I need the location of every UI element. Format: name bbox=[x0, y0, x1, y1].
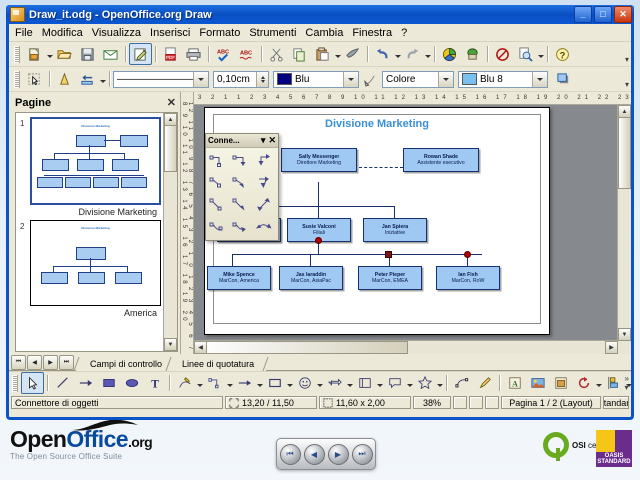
vertical-ruler-ticks: 12 11 10 9 8 7 6 5 4 3 2 1 0 1 2 3 4 5 6… bbox=[181, 92, 193, 354]
area-color-combo[interactable]: Blu 8 bbox=[458, 71, 548, 88]
undo-icon[interactable] bbox=[371, 43, 394, 65]
osi-logo-icon bbox=[543, 432, 569, 458]
flowchart-shapes-icon[interactable] bbox=[353, 372, 376, 394]
thumb-node bbox=[65, 177, 91, 188]
canvas-horizontal-scrollbar[interactable]: ◀ ▶ bbox=[194, 340, 618, 354]
toolbar-separator bbox=[499, 375, 500, 391]
toolbar-grip[interactable] bbox=[14, 71, 20, 88]
canvas-scroll-down-icon[interactable]: ▼ bbox=[618, 328, 631, 341]
connector-selection-handle[interactable] bbox=[385, 251, 392, 258]
thumb-node bbox=[112, 159, 139, 171]
basic-shapes-icon[interactable] bbox=[263, 372, 286, 394]
thumb-connector bbox=[90, 258, 91, 266]
pages-scroll-down-icon[interactable]: ▼ bbox=[164, 338, 177, 351]
osi-bold: OSI bbox=[572, 441, 586, 450]
area-color-value: Blu 8 bbox=[480, 74, 532, 85]
callout-dropdown-icon[interactable] bbox=[406, 374, 413, 392]
connector-sally-rowan[interactable] bbox=[359, 167, 403, 168]
node-role: Direttore Marketing bbox=[297, 160, 341, 167]
line-tool-icon[interactable] bbox=[51, 372, 74, 394]
toolbar-separator bbox=[261, 46, 262, 62]
draw-document-icon bbox=[10, 7, 25, 22]
media-controls[interactable]: ⏮ ◀ ▶ ⏭ bbox=[276, 438, 376, 470]
menu-visualizza[interactable]: Visualizza bbox=[92, 27, 141, 39]
connector-dropdown-icon[interactable] bbox=[226, 374, 233, 392]
tab-last-icon[interactable]: ⏭ bbox=[59, 355, 74, 370]
undo-dropdown-icon[interactable] bbox=[394, 45, 401, 63]
send-email-icon[interactable] bbox=[99, 43, 122, 65]
page-thumbnail-list: 1 Divisione Marketing bbox=[16, 113, 163, 351]
openoffice-branding: OpenOffice.org The Open Source Office Su… bbox=[10, 428, 220, 461]
arrow-tool-icon[interactable] bbox=[74, 372, 97, 394]
area-style-value: Colore bbox=[386, 74, 438, 85]
pages-panel-title: Pagine bbox=[15, 97, 167, 109]
area-style-combo[interactable]: Colore bbox=[382, 71, 454, 88]
main-content: Pagine ✕ 1 Divisione Marketing bbox=[9, 92, 631, 354]
glue-point-handle[interactable] bbox=[464, 251, 471, 258]
node-role: Filiali bbox=[313, 230, 325, 237]
logo-org: .org bbox=[128, 434, 152, 450]
node-role: MarCon, America bbox=[219, 278, 259, 285]
block-arrows-icon[interactable] bbox=[323, 372, 346, 394]
shadow-icon[interactable] bbox=[552, 68, 575, 90]
line-color-swatch-icon bbox=[277, 73, 292, 85]
gluepoints-icon[interactable] bbox=[473, 372, 496, 394]
open-document-icon[interactable] bbox=[53, 43, 76, 65]
connector-sally-down[interactable] bbox=[318, 182, 319, 206]
area-color-dropdown-icon[interactable] bbox=[532, 72, 547, 87]
connector-straight-icon[interactable] bbox=[208, 194, 231, 216]
connector-straight-arrow-end-icon[interactable] bbox=[231, 194, 254, 216]
thumb-node bbox=[76, 135, 106, 147]
pages-panel-header: Pagine ✕ bbox=[15, 94, 180, 111]
page-caption: Divisione Marketing bbox=[30, 205, 161, 217]
area-color-swatch-icon bbox=[462, 73, 477, 85]
connector-palette-title: Conne... bbox=[208, 136, 258, 145]
line-width-value: 0,10cm bbox=[217, 74, 256, 85]
line-color-dropdown-icon[interactable] bbox=[343, 72, 358, 87]
media-prev-icon[interactable]: ◀ bbox=[304, 444, 325, 465]
line-width-spinner[interactable]: 0,10cm bbox=[213, 71, 269, 88]
status-zoom[interactable]: 38% bbox=[413, 396, 451, 409]
thumb-node bbox=[78, 272, 105, 284]
page-thumbnail-item[interactable]: 1 Divisione Marketing bbox=[20, 117, 161, 217]
thumb-connector bbox=[44, 175, 144, 176]
clone-formatting-icon[interactable] bbox=[341, 43, 364, 65]
node-role: MarCon, RoW bbox=[452, 278, 485, 285]
chart-icon[interactable] bbox=[438, 43, 461, 65]
window-buttons: _ □ ✕ bbox=[574, 6, 632, 23]
callout-shapes-icon[interactable] bbox=[383, 372, 406, 394]
toolbar-separator bbox=[49, 71, 50, 87]
status-extra-indicator bbox=[485, 396, 499, 409]
page-thumbnail-2[interactable]: Divisione Marketing bbox=[30, 220, 161, 306]
thumb-node bbox=[121, 177, 147, 188]
seagull-icon bbox=[70, 419, 140, 433]
pages-panel: Pagine ✕ 1 Divisione Marketing bbox=[9, 92, 181, 354]
area-style-icon[interactable] bbox=[359, 68, 382, 90]
drawing-toolbar: T bbox=[9, 371, 631, 394]
insert-image-icon[interactable] bbox=[526, 372, 549, 394]
status-position: 13,20 / 11,50 bbox=[225, 396, 317, 409]
node-role: Assistente esecutivo bbox=[417, 160, 464, 167]
ellipse-tool-icon[interactable] bbox=[120, 372, 143, 394]
line-and-filling-toolbar: ———————— 0,10cm Blu Colore Blu 8 bbox=[9, 67, 631, 92]
connector-straight-arrows-both-icon[interactable] bbox=[253, 194, 276, 216]
toolbar-separator bbox=[155, 46, 156, 62]
toolbar-separator bbox=[47, 375, 48, 391]
canvas-hscroll-thumb[interactable] bbox=[206, 341, 408, 354]
node-sally[interactable]: Sally Messenger Direttore Marketing bbox=[281, 148, 357, 172]
svg-text:ABC: ABC bbox=[240, 50, 252, 56]
pages-scroll-thumb[interactable] bbox=[164, 125, 177, 172]
thumb-node bbox=[42, 159, 69, 171]
menu-inserisci[interactable]: Inserisci bbox=[150, 27, 190, 39]
menu-finestra[interactable]: Finestra bbox=[352, 27, 392, 39]
status-size-value: 11,60 x 2,00 bbox=[336, 398, 385, 408]
connector-curved-icon[interactable] bbox=[208, 216, 231, 238]
connector-to-jan[interactable] bbox=[394, 206, 395, 218]
node-role: MarCon, EMEA bbox=[372, 278, 408, 285]
text-tool-icon[interactable]: T bbox=[143, 372, 166, 394]
export-pdf-icon[interactable]: PDF bbox=[159, 43, 182, 65]
canvas-vertical-scrollbar[interactable]: ▲ ▼ bbox=[617, 105, 631, 354]
menu-help[interactable]: ? bbox=[401, 27, 407, 39]
standard-toolbar-overflow-icon[interactable]: ▾ bbox=[625, 55, 629, 64]
help-icon[interactable]: ? bbox=[551, 43, 574, 65]
redo-icon[interactable] bbox=[401, 43, 424, 65]
print-icon[interactable] bbox=[182, 43, 205, 65]
line-arrow-dropdown-icon[interactable] bbox=[256, 374, 263, 392]
save-document-icon[interactable] bbox=[76, 43, 99, 65]
connector-palette-dropdown-icon[interactable]: ▾ bbox=[258, 135, 266, 146]
thumb-node bbox=[120, 135, 148, 147]
status-size: 11,60 x 2,00 bbox=[319, 396, 411, 409]
connector-curved-arrow-end-icon[interactable] bbox=[231, 216, 254, 238]
tab-first-icon[interactable]: ⏮ bbox=[11, 355, 26, 370]
status-signature-indicator bbox=[469, 396, 483, 409]
curve-dropdown-icon[interactable] bbox=[196, 374, 203, 392]
media-next-icon[interactable]: ▶ bbox=[328, 444, 349, 465]
menu-file[interactable]: File bbox=[15, 27, 33, 39]
fontwork-gallery-icon[interactable]: A bbox=[503, 372, 526, 394]
line-color-value: Blu bbox=[295, 74, 343, 85]
rotate-icon[interactable] bbox=[572, 372, 595, 394]
connector-palette-body bbox=[206, 148, 278, 240]
tab-linee-di-quotatura[interactable]: Linee di quotatura bbox=[168, 357, 266, 371]
connector-standard-arrows-both-icon[interactable] bbox=[253, 150, 276, 172]
menu-cambia[interactable]: Cambia bbox=[305, 27, 343, 39]
align-dropdown-icon[interactable] bbox=[99, 70, 106, 88]
menu-modifica[interactable]: Modifica bbox=[42, 27, 83, 39]
media-first-icon[interactable]: ⏮ bbox=[280, 444, 301, 465]
fontwork-icon[interactable] bbox=[53, 68, 76, 90]
maximize-button[interactable]: □ bbox=[594, 6, 612, 23]
redo-dropdown-icon[interactable] bbox=[424, 45, 431, 63]
node-mike[interactable]: Mike Spence MarCon, America bbox=[207, 266, 271, 290]
svg-text:PDF: PDF bbox=[166, 55, 175, 60]
pages-panel-close-icon[interactable]: ✕ bbox=[167, 96, 176, 109]
gallery-icon[interactable] bbox=[461, 43, 484, 65]
line-style-value: ———————— bbox=[117, 74, 193, 85]
thumb-connector bbox=[104, 140, 120, 141]
line-width-spin-icon[interactable] bbox=[256, 72, 268, 87]
toolbar-separator bbox=[487, 46, 488, 62]
symbol-shapes-dropdown-icon[interactable] bbox=[316, 374, 323, 392]
connector-tool-icon[interactable] bbox=[203, 372, 226, 394]
layer-tab-bar: ⏮ ◀ ▶ ⏭ Campi di controllo Linee di quot… bbox=[9, 354, 631, 371]
tab-nav-buttons: ⏮ ◀ ▶ ⏭ bbox=[11, 355, 74, 371]
drawing-toolbar-overflow-icon[interactable]: »▾ bbox=[625, 374, 629, 392]
minimize-button[interactable]: _ bbox=[574, 6, 592, 23]
page-number: 2 bbox=[20, 220, 30, 318]
svg-text:A: A bbox=[512, 380, 518, 389]
openoffice-tagline: The Open Source Office Suite bbox=[10, 452, 220, 461]
new-document-icon[interactable] bbox=[23, 43, 46, 65]
connector-curved-arrows-both-icon[interactable] bbox=[253, 216, 276, 238]
flowchart-dropdown-icon[interactable] bbox=[376, 374, 383, 392]
copy-icon[interactable] bbox=[288, 43, 311, 65]
horizontal-ruler[interactable]: 3 2 1 1 2 3 4 5 6 7 8 9 10 11 12 13 14 1… bbox=[194, 92, 631, 105]
window-title: Draw_it.odg - OpenOffice.org Draw bbox=[29, 9, 574, 21]
position-icon bbox=[229, 398, 239, 408]
selection-tool-icon[interactable] bbox=[21, 372, 44, 394]
thumbnail-title: Divisione Marketing bbox=[31, 226, 160, 230]
svg-text:?: ? bbox=[560, 50, 566, 60]
stars-shapes-icon[interactable] bbox=[413, 372, 436, 394]
logo-open: Open bbox=[10, 426, 66, 452]
toolbar-separator bbox=[125, 46, 126, 62]
stars-dropdown-icon[interactable] bbox=[436, 374, 443, 392]
node-role: MarCon, AsiaPac bbox=[291, 278, 331, 285]
line-arrow-tool-icon[interactable] bbox=[233, 372, 256, 394]
points-edit-icon[interactable] bbox=[450, 372, 473, 394]
svg-text:T: T bbox=[151, 378, 159, 390]
align-objects-icon[interactable] bbox=[602, 372, 625, 394]
connector-line-icon[interactable] bbox=[208, 172, 231, 194]
status-bar: Connettore di oggetti 13,20 / 11,50 11,6… bbox=[9, 394, 631, 411]
canvas-vscroll-thumb[interactable] bbox=[618, 117, 631, 189]
tab-prev-icon[interactable]: ◀ bbox=[27, 355, 42, 370]
connector-standard-icon[interactable] bbox=[208, 150, 231, 172]
connector-level3-bus[interactable] bbox=[232, 254, 482, 255]
connector-standard-arrow-end-icon[interactable] bbox=[231, 150, 254, 172]
connector-palette[interactable]: Conne... ▾ ✕ bbox=[205, 133, 279, 241]
status-modified-indicator bbox=[453, 396, 467, 409]
connector-to-susie[interactable] bbox=[318, 206, 319, 218]
toolbar-separator bbox=[367, 46, 368, 62]
oasis-logo-icon bbox=[596, 430, 632, 452]
menu-formato[interactable]: Formato bbox=[199, 27, 240, 39]
menu-strumenti[interactable]: Strumenti bbox=[249, 27, 296, 39]
toolbar-grip[interactable] bbox=[14, 46, 20, 63]
standard-toolbar: PDF ABC ABC bbox=[9, 42, 631, 67]
status-style: Standard bbox=[603, 396, 629, 409]
status-page: Pagina 1 / 2 (Layout) bbox=[501, 396, 601, 409]
thumb-node bbox=[77, 159, 104, 171]
tab-campi-di-controllo[interactable]: Campi di controllo bbox=[76, 357, 174, 371]
toolbar-separator bbox=[109, 71, 110, 87]
close-button[interactable]: ✕ bbox=[614, 6, 632, 23]
title-bar: Draw_it.odg - OpenOffice.org Draw _ □ ✕ bbox=[6, 5, 634, 24]
size-icon bbox=[323, 398, 333, 408]
line-toolbar-overflow-icon[interactable]: ▾ bbox=[625, 80, 629, 89]
line-style-dropdown-icon[interactable] bbox=[193, 72, 208, 87]
line-style-combo[interactable]: ———————— bbox=[113, 71, 209, 88]
connector-to-jas[interactable] bbox=[310, 254, 311, 266]
toolbar-separator bbox=[446, 375, 447, 391]
pages-scrollbar[interactable]: ▲ ▼ bbox=[163, 113, 177, 351]
page-number: 1 bbox=[20, 117, 30, 217]
autospellcheck-icon[interactable]: ABC bbox=[235, 43, 258, 65]
page-thumbnail-1[interactable]: Divisione Marketing bbox=[30, 117, 161, 205]
toolbar-separator bbox=[547, 46, 548, 62]
rectangle-tool-icon[interactable] bbox=[97, 372, 120, 394]
pages-panel-body: 1 Divisione Marketing bbox=[15, 112, 178, 352]
align-icon[interactable] bbox=[76, 68, 99, 90]
display-grid-icon[interactable] bbox=[491, 43, 514, 65]
thumb-node bbox=[76, 247, 106, 260]
spellcheck-icon[interactable]: ABC bbox=[212, 43, 235, 65]
basic-shapes-dropdown-icon[interactable] bbox=[286, 374, 293, 392]
diagram-title[interactable]: Divisione Marketing bbox=[205, 118, 549, 130]
oasis-label: OASIS STANDARD bbox=[596, 452, 632, 467]
edit-file-icon[interactable] bbox=[129, 43, 152, 65]
page-caption: America bbox=[30, 306, 161, 318]
curve-tool-icon[interactable] bbox=[173, 372, 196, 394]
node-jan[interactable]: Jan Spiera Iniziative bbox=[363, 218, 427, 242]
connector-line-arrow-end-icon[interactable] bbox=[231, 172, 254, 194]
node-role: Iniziative bbox=[385, 230, 405, 237]
node-ian[interactable]: Ian Fish MarCon, RoW bbox=[436, 266, 500, 290]
connector-to-mike[interactable] bbox=[232, 254, 233, 266]
connector-line-arrows-both-icon[interactable] bbox=[253, 172, 276, 194]
symbol-shapes-icon[interactable] bbox=[293, 372, 316, 394]
paste-icon[interactable] bbox=[311, 43, 334, 65]
node-peter[interactable]: Peter Pieper MarCon, EMEA bbox=[358, 266, 422, 290]
zoom-dropdown-icon[interactable] bbox=[537, 45, 544, 63]
node-jas[interactable]: Jas Iaraddin MarCon, AsiaPac bbox=[279, 266, 343, 290]
status-mode: Connettore di oggetti bbox=[11, 396, 223, 409]
media-last-icon[interactable]: ⏭ bbox=[352, 444, 373, 465]
tab-next-icon[interactable]: ▶ bbox=[43, 355, 58, 370]
toolbar-grip[interactable] bbox=[12, 375, 18, 392]
thumbnail-title: Divisione Marketing bbox=[32, 124, 159, 128]
thumb-node bbox=[93, 177, 119, 188]
node-rowan[interactable]: Rowan Shade Assistente esecutivo bbox=[403, 148, 479, 172]
connector-palette-header[interactable]: Conne... ▾ ✕ bbox=[206, 134, 278, 148]
page-thumbnail-item[interactable]: 2 Divisione Marketing bbox=[20, 220, 161, 318]
paste-dropdown-icon[interactable] bbox=[334, 45, 341, 63]
oasis-line2: STANDARD bbox=[596, 459, 632, 465]
oasis-standard-badge: OASIS STANDARD bbox=[596, 430, 632, 467]
line-color-combo[interactable]: Blu bbox=[273, 71, 359, 88]
vertical-ruler[interactable]: 12 11 10 9 8 7 6 5 4 3 2 1 0 1 2 3 4 5 6… bbox=[181, 92, 194, 354]
select-icon[interactable] bbox=[23, 68, 46, 90]
toolbar-separator bbox=[208, 46, 209, 62]
menu-bar: File Modifica Visualizza Inserisci Forma… bbox=[9, 24, 631, 42]
gallery-panel-icon[interactable] bbox=[549, 372, 572, 394]
area-style-dropdown-icon[interactable] bbox=[438, 72, 453, 87]
connector-palette-close-icon[interactable]: ✕ bbox=[265, 135, 276, 146]
block-arrows-dropdown-icon[interactable] bbox=[346, 374, 353, 392]
new-document-dropdown-icon[interactable] bbox=[46, 45, 53, 63]
zoom-icon[interactable] bbox=[514, 43, 537, 65]
cut-icon[interactable] bbox=[265, 43, 288, 65]
application-window: Draw_it.odg - OpenOffice.org Draw _ □ ✕ … bbox=[6, 8, 634, 420]
toolbar-separator bbox=[434, 46, 435, 62]
thumb-node bbox=[41, 272, 68, 284]
horizontal-ruler-ticks: 3 2 1 1 2 3 4 5 6 7 8 9 10 11 12 13 14 1… bbox=[198, 95, 631, 101]
status-position-value: 13,20 / 11,50 bbox=[242, 398, 294, 408]
rotate-dropdown-icon[interactable] bbox=[595, 374, 602, 392]
toolbar-separator bbox=[169, 375, 170, 391]
thumb-node bbox=[115, 272, 142, 284]
glue-point-handle[interactable] bbox=[315, 237, 322, 244]
thumb-connector bbox=[89, 145, 90, 153]
thumb-node bbox=[37, 177, 63, 188]
canvas-scroll-right-icon[interactable]: ▶ bbox=[605, 341, 618, 354]
